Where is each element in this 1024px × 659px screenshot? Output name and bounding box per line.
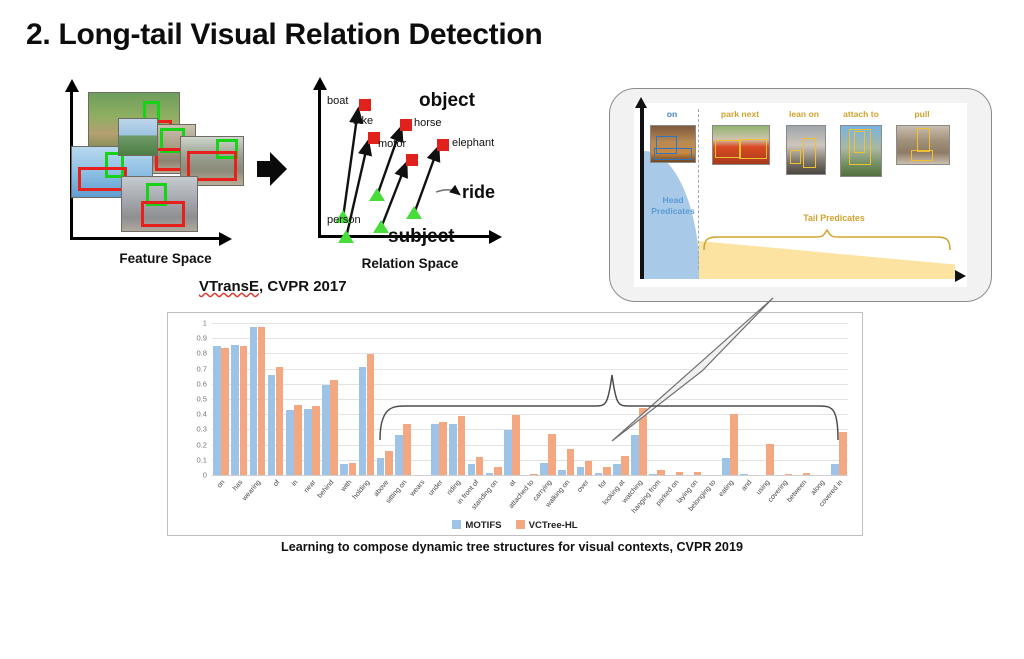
- object-marker-boat: [359, 99, 371, 111]
- chart-bar: [231, 345, 239, 475]
- chart-bar: [585, 461, 593, 475]
- chart-bar-group: [539, 323, 557, 475]
- chart-bar-group: [248, 323, 266, 475]
- chart-bar: [468, 464, 476, 475]
- chart-x-tick: standing on: [485, 478, 503, 522]
- chart-x-tick-label: near: [303, 479, 317, 494]
- chart-x-tick: behind: [321, 478, 339, 522]
- chart-bar: [330, 380, 338, 475]
- chart-x-tick: holding: [357, 478, 375, 522]
- chart-bar: [785, 474, 793, 475]
- chart-y-tick-label: 0.8: [196, 349, 207, 358]
- legend-label-vctree: VCTree-HL: [529, 520, 578, 531]
- chart-x-tick: in: [285, 478, 303, 522]
- relation-space-subject-axis-label: subject: [388, 226, 455, 248]
- object-marker-motor: [406, 154, 418, 166]
- chart-y-tick-label: 0.6: [196, 379, 207, 388]
- chart-bar: [803, 473, 811, 475]
- slide-canvas: 2. Long-tail Visual Relation Detection F…: [0, 0, 1024, 573]
- feature-space-panel: Feature Space: [58, 88, 273, 273]
- chart-bar: [740, 474, 748, 475]
- chart-x-tick-label: has: [232, 479, 245, 492]
- relation-space-caption: Relation Space: [310, 256, 510, 271]
- chart-bar-group: [376, 323, 394, 475]
- chart-bar: [312, 406, 320, 475]
- chart-x-tick: over: [575, 478, 593, 522]
- object-marker-horse: [400, 119, 412, 131]
- long-tail-callout-box: on park next lean on attach to pull: [609, 88, 992, 302]
- chart-bar: [250, 327, 258, 475]
- chart-bar: [839, 432, 847, 475]
- relation-bbox: [715, 140, 741, 158]
- chart-bar-group: [757, 323, 775, 475]
- chart-bar-group: [466, 323, 484, 475]
- chart-bar: [349, 463, 357, 475]
- page-title: 2. Long-tail Visual Relation Detection: [26, 18, 542, 52]
- chart-bar: [504, 430, 512, 475]
- chart-bar: [322, 385, 330, 475]
- chart-bar: [766, 444, 774, 475]
- subject-marker: [338, 230, 354, 243]
- chart-bar-group: [612, 323, 630, 475]
- chart-bar: [240, 346, 248, 475]
- chart-gridline: 0: [212, 475, 848, 476]
- chart-x-tick: eating: [721, 478, 739, 522]
- chart-y-tick-label: 0.1: [196, 455, 207, 464]
- relation-space-panel: boat bike horse motor elephant person ob…: [296, 86, 526, 276]
- relation-bbox: [739, 139, 767, 159]
- legend-label-motifs: MOTIFS: [465, 520, 501, 531]
- chart-x-tick-label: wears: [409, 479, 426, 498]
- chart-bar-group: [357, 323, 375, 475]
- chart-bar: [649, 474, 657, 475]
- chart-x-tick-label: under: [428, 479, 445, 497]
- predicate-label-on: on: [648, 109, 696, 119]
- predicate-thumbnail-park-next: [712, 125, 770, 165]
- chart-x-tick-label: eating: [718, 479, 736, 498]
- chart-bar: [621, 456, 629, 475]
- chart-bar-group: [812, 323, 830, 475]
- chart-bar: [431, 424, 439, 475]
- chart-bar-group: [503, 323, 521, 475]
- subject-bbox: [141, 201, 185, 227]
- chart-x-tick: covered in: [830, 478, 848, 522]
- chart-bar: [595, 473, 603, 475]
- feature-space-x-axis: [70, 237, 220, 240]
- feature-space-photo: [118, 118, 158, 156]
- chart-bar: [286, 410, 294, 475]
- chart-bar: [377, 458, 385, 475]
- chart-x-tick: and: [739, 478, 757, 522]
- chart-bar-group: [430, 323, 448, 475]
- chart-bar: [221, 348, 229, 475]
- chart-x-tick-label: with: [340, 479, 353, 493]
- legend-swatch-vctree: [516, 520, 525, 529]
- chart-bar-group: [212, 323, 230, 475]
- predicate-thumbnail-lean-on: [786, 125, 826, 175]
- legend-swatch-motifs: [452, 520, 461, 529]
- chart-x-tick-label: riding: [446, 479, 462, 497]
- chart-x-tick: wears: [412, 478, 430, 522]
- chart-x-tick-label: and: [741, 479, 754, 492]
- chart-x-tick: of: [267, 478, 285, 522]
- chart-bar-group: [794, 323, 812, 475]
- chart-bar: [558, 470, 566, 475]
- relation-annotation-ride: ride: [462, 182, 495, 203]
- chart-bar-group: [684, 323, 702, 475]
- chart-x-tick: on: [212, 478, 230, 522]
- chart-legend: MOTIFS VCTree-HL: [168, 520, 862, 531]
- chart-x-axis-labels: onhaswearingofinnearbehindwithholdingabo…: [212, 478, 848, 522]
- chart-bar-group: [321, 323, 339, 475]
- chart-bar-group: [830, 323, 848, 475]
- chart-bar: [304, 409, 312, 475]
- chart-x-tick-label: above: [372, 479, 390, 498]
- chart-y-tick-label: 0.9: [196, 334, 207, 343]
- chart-y-tick-label: 0: [203, 471, 207, 480]
- chart-bar-group: [775, 323, 793, 475]
- chart-x-tick: wearing: [248, 478, 266, 522]
- chart-bar: [367, 354, 375, 475]
- chart-bar: [439, 422, 447, 475]
- per-predicate-recall-chart: 00.10.20.30.40.50.60.70.80.91 onhasweari…: [167, 312, 863, 536]
- chart-bar-group: [412, 323, 430, 475]
- chart-bar: [540, 463, 548, 475]
- subject-label-person: person: [327, 214, 361, 226]
- chart-bar-group: [648, 323, 666, 475]
- chart-bar: [694, 472, 702, 475]
- object-label-boat: boat: [327, 95, 348, 107]
- subject-marker: [373, 220, 389, 233]
- chart-plot-area: 00.10.20.30.40.50.60.70.80.91: [212, 323, 848, 475]
- chart-bar-group: [521, 323, 539, 475]
- legend-item-vctree: VCTree-HL: [516, 520, 578, 531]
- chart-bar: [258, 327, 266, 475]
- chart-bar: [385, 451, 393, 475]
- relation-bbox: [911, 150, 933, 161]
- predicate-thumbnail-on: [650, 125, 696, 163]
- chart-bar: [577, 467, 585, 475]
- chart-bar: [486, 473, 494, 475]
- chart-x-tick-label: using: [755, 479, 771, 496]
- chart-x-tick: walking on: [557, 478, 575, 522]
- chart-bar: [512, 415, 520, 475]
- feature-space-photo: [121, 176, 198, 232]
- chart-x-tick: between: [794, 478, 812, 522]
- chart-bar: [730, 414, 738, 475]
- chart-bar-group: [485, 323, 503, 475]
- tail-predicates-label: Tail Predicates: [774, 213, 894, 223]
- vtranse-reference-label: VTransE, CVPR 2017: [199, 278, 347, 295]
- relation-space-object-axis-label: object: [419, 90, 475, 112]
- chart-bar: [395, 435, 403, 475]
- bottom-reference-caption: Learning to compose dynamic tree structu…: [0, 540, 1024, 554]
- chart-bar-group: [394, 323, 412, 475]
- predicate-thumbnail-pull: [896, 125, 950, 165]
- chart-bar: [294, 405, 302, 475]
- chart-y-tick-label: 1: [203, 319, 207, 328]
- chart-bar-group: [303, 323, 321, 475]
- chart-y-tick-label: 0.3: [196, 425, 207, 434]
- object-marker-elephant: [437, 139, 449, 151]
- chart-bar-group: [575, 323, 593, 475]
- relation-bbox: [854, 131, 865, 153]
- chart-bar-group: [721, 323, 739, 475]
- chart-bar: [831, 464, 839, 475]
- chart-bar: [657, 470, 665, 475]
- predicate-label-lean-on: lean on: [780, 109, 828, 119]
- chart-bars: [212, 323, 848, 475]
- chart-bar: [476, 457, 484, 475]
- chart-bar-group: [230, 323, 248, 475]
- chart-bar-group: [739, 323, 757, 475]
- head-tail-divider: [698, 109, 699, 269]
- chart-y-tick-label: 0.4: [196, 410, 207, 419]
- chart-bar-group: [630, 323, 648, 475]
- chart-bar-group: [448, 323, 466, 475]
- chart-bar-group: [267, 323, 285, 475]
- chart-bar: [639, 408, 647, 475]
- chart-bar-group: [703, 323, 721, 475]
- chart-bar: [548, 434, 556, 475]
- subject-marker: [406, 206, 422, 219]
- chart-y-tick-label: 0.7: [196, 364, 207, 373]
- chart-bar: [613, 464, 621, 475]
- chart-x-tick: with: [339, 478, 357, 522]
- chart-bar-group: [285, 323, 303, 475]
- predicate-label-park-next: park next: [710, 109, 770, 119]
- chart-bar-group: [666, 323, 684, 475]
- chart-bar: [631, 435, 639, 475]
- chart-bar: [340, 464, 348, 475]
- chart-bar: [403, 424, 411, 475]
- predicate-thumbnail-attach-to: [840, 125, 882, 177]
- chart-x-tick-label: along: [810, 479, 826, 497]
- chart-x-tick-label: for: [597, 479, 608, 490]
- chart-x-tick: under: [430, 478, 448, 522]
- chart-bar: [530, 474, 538, 475]
- object-label-bike: bike: [353, 115, 373, 127]
- object-label-horse: horse: [414, 117, 442, 129]
- chart-bar: [359, 367, 367, 475]
- chart-x-tick-label: on: [216, 479, 226, 489]
- relation-bbox: [790, 150, 801, 164]
- vtranse-reference-rest: , CVPR 2017: [259, 278, 347, 295]
- head-predicates-label: Head Predicates: [644, 195, 702, 216]
- chart-bar: [603, 467, 611, 475]
- chart-bar: [494, 467, 502, 475]
- chart-bar: [567, 449, 575, 475]
- chart-x-tick: near: [303, 478, 321, 522]
- chart-x-tick-label: of: [272, 479, 281, 488]
- chart-bar: [213, 346, 221, 475]
- long-tail-y-axis: [640, 107, 644, 279]
- chart-x-tick: sitting on: [394, 478, 412, 522]
- chart-bar: [276, 367, 284, 475]
- chart-bar-group: [594, 323, 612, 475]
- subject-marker: [369, 188, 385, 201]
- predicate-label-attach-to: attach to: [834, 109, 888, 119]
- chart-x-tick: belonging to: [703, 478, 721, 522]
- tail-predicates-brace: [702, 229, 952, 251]
- chart-bar: [676, 472, 684, 475]
- subject-bbox: [78, 167, 127, 191]
- relation-space-y-axis: [318, 88, 321, 238]
- chart-bar: [458, 416, 466, 475]
- predicate-label-pull: pull: [898, 109, 946, 119]
- chart-bar: [722, 458, 730, 475]
- relation-bbox: [654, 148, 692, 160]
- chart-x-tick-label: at: [508, 479, 517, 488]
- chart-y-tick-label: 0.2: [196, 440, 207, 449]
- vtranse-misspelled-word: VTransE: [199, 278, 259, 295]
- chart-y-tick-label: 0.5: [196, 395, 207, 404]
- chart-bar-group: [339, 323, 357, 475]
- legend-item-motifs: MOTIFS: [452, 520, 501, 531]
- object-label-elephant: elephant: [452, 137, 494, 149]
- relation-bbox: [803, 138, 816, 168]
- chart-x-tick-label: in: [290, 479, 299, 488]
- transition-arrow-icon: [257, 152, 287, 186]
- chart-x-tick-label: over: [576, 479, 590, 494]
- long-tail-distribution-chart: on park next lean on attach to pull: [634, 103, 967, 287]
- feature-space-caption: Feature Space: [58, 251, 273, 266]
- chart-bar: [268, 375, 276, 475]
- object-label-motor: motor: [378, 138, 406, 150]
- relation-bbox: [917, 128, 930, 152]
- chart-bar: [449, 424, 457, 475]
- chart-bar-group: [557, 323, 575, 475]
